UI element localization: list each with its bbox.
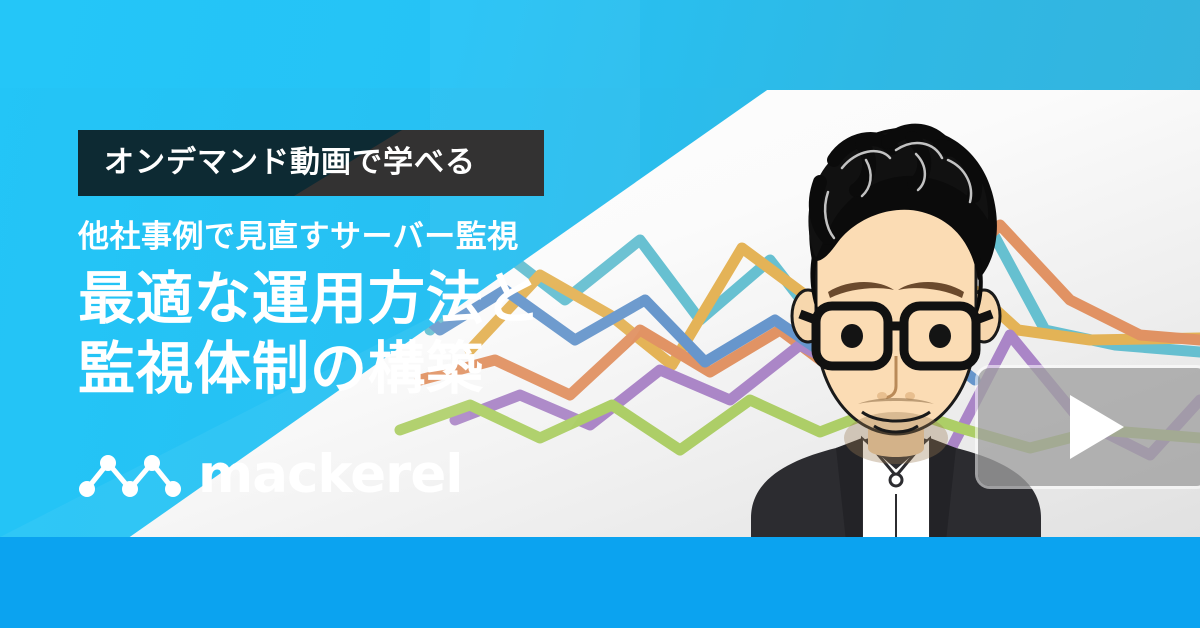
play-button[interactable] — [978, 368, 1200, 486]
ondemand-tag-banner: オンデマンド動画で学べる — [78, 130, 544, 196]
mackerel-line-chart-mark — [78, 452, 182, 498]
promo-banner: オンデマンド動画で学べる 他社事例で見直すサーバー監視 最適な運用方法と 監視体… — [0, 0, 1200, 628]
play-triangle-icon — [1070, 395, 1124, 459]
tag-banner-label: オンデマンド動画で学べる — [78, 130, 544, 196]
headline-line-1: 最適な運用方法と — [78, 265, 638, 335]
subtitle: 他社事例で見直すサーバー監視 — [78, 218, 638, 255]
mackerel-logo: mackerel — [78, 448, 462, 501]
mackerel-wordmark: mackerel — [198, 448, 462, 501]
bottom-blue-band — [0, 537, 1200, 628]
headline-block: 他社事例で見直すサーバー監視 最適な運用方法と 監視体制の構築 — [78, 218, 638, 404]
headline-line-2: 監視体制の構築 — [78, 335, 638, 405]
speaker-portrait — [716, 108, 1076, 560]
